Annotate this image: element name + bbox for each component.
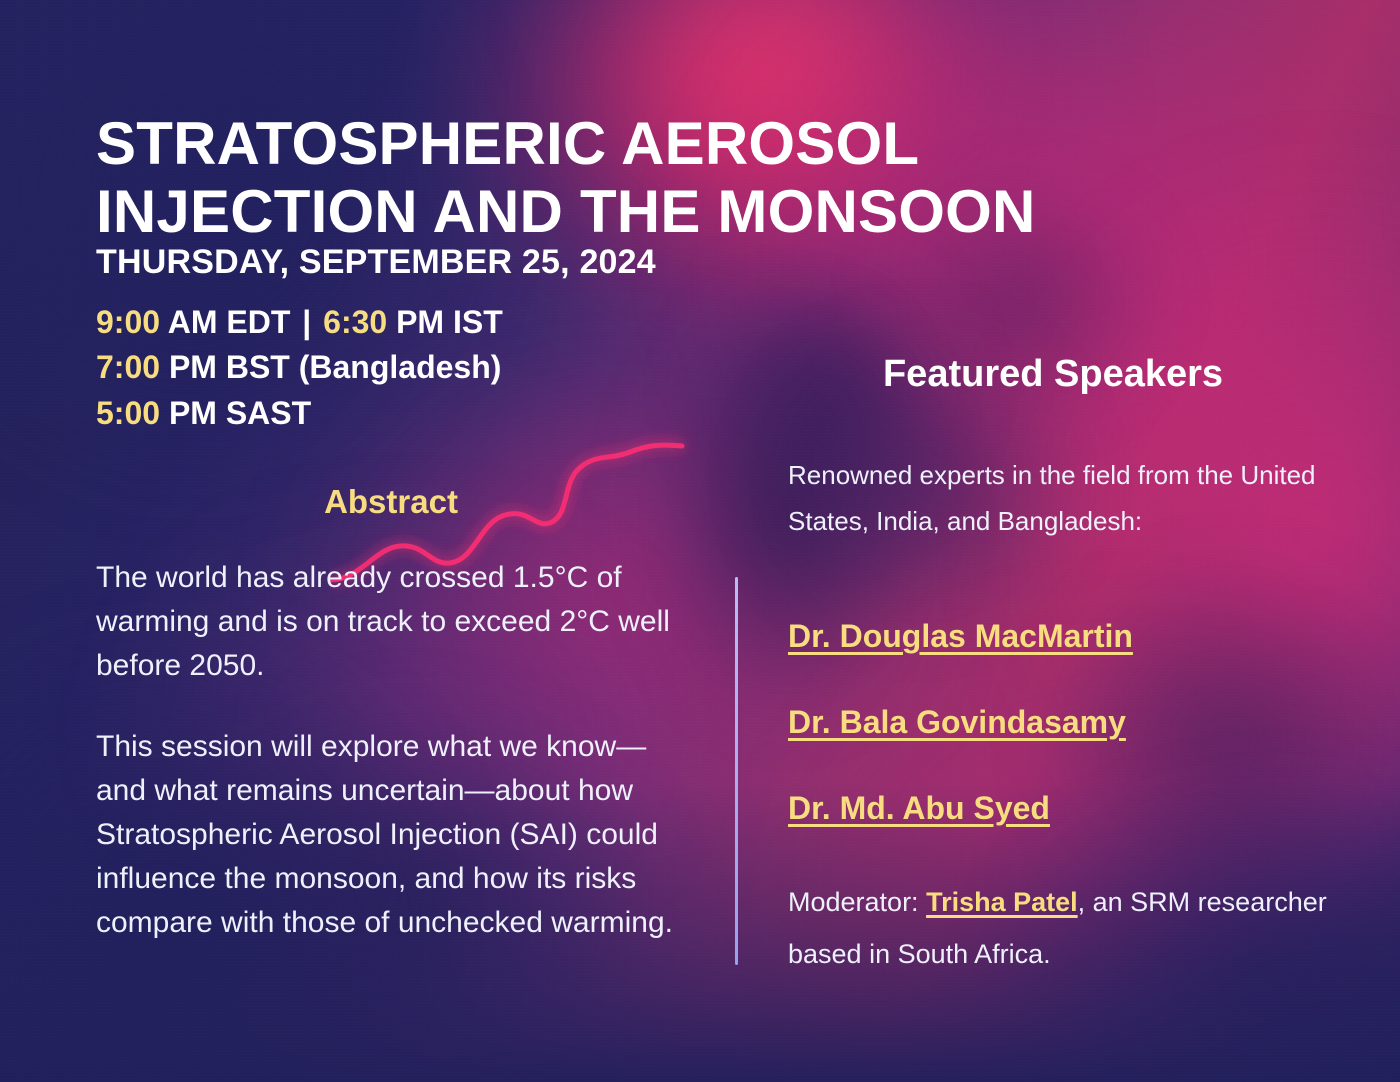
- featured-speakers-intro: Renowned experts in the field from the U…: [788, 452, 1318, 545]
- abstract-heading: Abstract: [96, 483, 686, 521]
- abstract-paragraph-2: This session will explore what we know—a…: [96, 725, 696, 944]
- moderator-prefix: Moderator:: [788, 887, 926, 917]
- speaker-link-3[interactable]: Dr. Md. Abu Syed: [788, 790, 1348, 827]
- time-edt: 9:00: [96, 304, 160, 340]
- event-date: THURSDAY, SEPTEMBER 25, 2024: [96, 243, 656, 282]
- page-title: STRATOSPHERIC AEROSOL INJECTION AND THE …: [96, 110, 1216, 246]
- time-bst: 7:00: [96, 349, 160, 385]
- zone-bst: PM BST (Bangladesh): [169, 349, 501, 385]
- abstract-paragraph-1: The world has already crossed 1.5°C of w…: [96, 556, 696, 687]
- title-line-2: INJECTION AND THE MONSOON: [96, 178, 1216, 246]
- speaker-list: Dr. Douglas MacMartin Dr. Bala Govindasa…: [788, 618, 1348, 876]
- title-line-1: STRATOSPHERIC AEROSOL: [96, 110, 919, 177]
- time-separator: |: [299, 304, 314, 340]
- speaker-link-1[interactable]: Dr. Douglas MacMartin: [788, 618, 1348, 655]
- time-sast: 5:00: [96, 395, 160, 431]
- time-row-edt-ist: 9:00 AM EDT | 6:30 PM IST: [96, 300, 503, 345]
- moderator-line: Moderator: Trisha Patel, an SRM research…: [788, 877, 1333, 981]
- zone-sast: PM SAST: [169, 395, 311, 431]
- zone-ist: PM IST: [396, 304, 503, 340]
- time-row-bst: 7:00 PM BST (Bangladesh): [96, 345, 503, 390]
- speaker-link-2[interactable]: Dr. Bala Govindasamy: [788, 704, 1348, 741]
- featured-speakers-heading: Featured Speakers: [788, 353, 1318, 396]
- abstract-body: The world has already crossed 1.5°C of w…: [96, 556, 696, 944]
- zone-edt: AM EDT: [168, 304, 291, 340]
- time-ist: 6:30: [323, 304, 387, 340]
- webinar-poster: STRATOSPHERIC AEROSOL INJECTION AND THE …: [0, 0, 1400, 1082]
- column-divider: [735, 577, 738, 965]
- event-times: 9:00 AM EDT | 6:30 PM IST 7:00 PM BST (B…: [96, 300, 503, 436]
- moderator-link[interactable]: Trisha Patel: [926, 887, 1078, 917]
- time-row-sast: 5:00 PM SAST: [96, 391, 503, 436]
